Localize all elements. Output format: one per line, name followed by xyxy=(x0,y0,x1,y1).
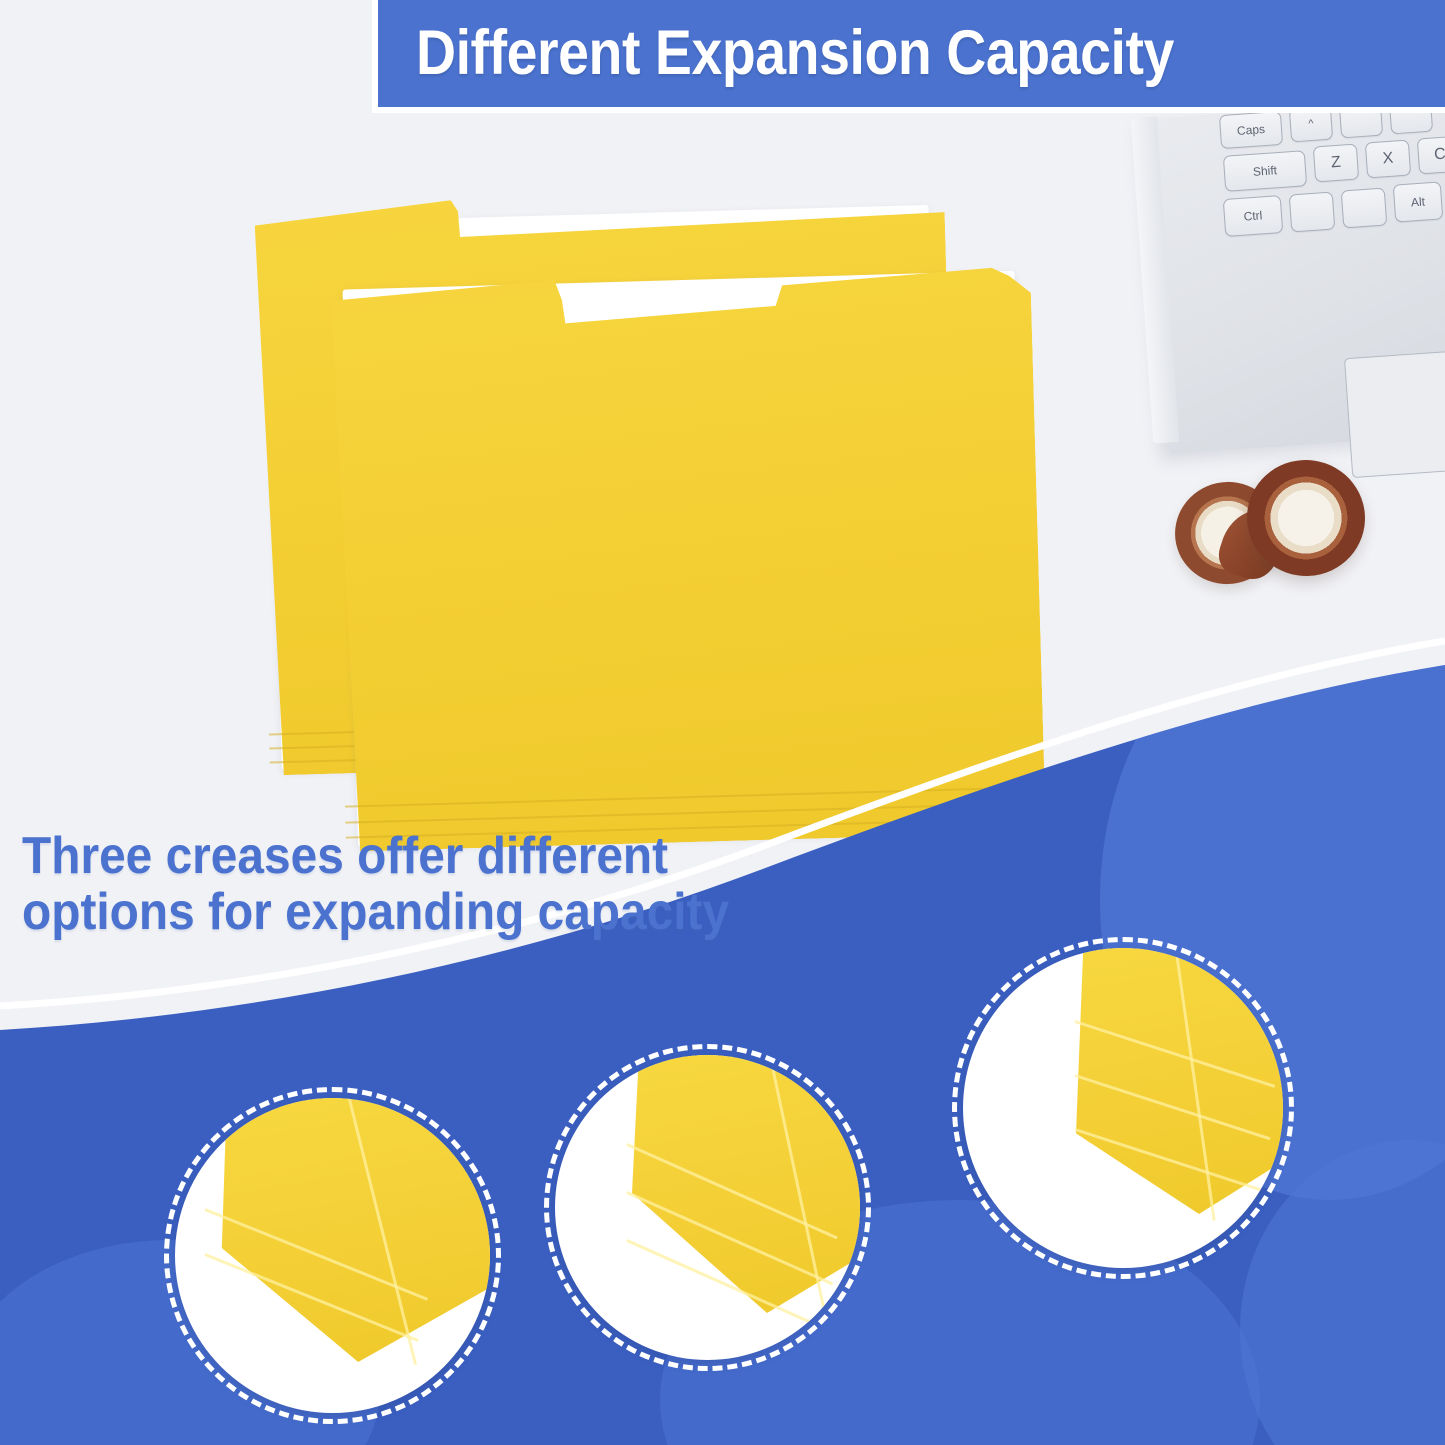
header-banner: Different Expansion Capacity xyxy=(372,0,1445,113)
crease-detail-circle-3[interactable] xyxy=(963,948,1283,1268)
crease-detail-1-inner xyxy=(175,1098,490,1413)
folder-corner-2 xyxy=(617,1055,860,1313)
caption-line-1: Three creases offer different xyxy=(22,828,813,884)
feature-caption: Three creases offer different options fo… xyxy=(22,828,813,940)
product-marketing-image: Caps ^ Shift Z X C Ctrl Alt xyxy=(0,0,1445,1445)
crease-detail-circle-2[interactable] xyxy=(555,1055,860,1360)
caption-line-2: options for expanding capacity xyxy=(22,884,813,940)
crease-detail-2-inner xyxy=(555,1055,860,1360)
page-title: Different Expansion Capacity xyxy=(416,22,1174,85)
crease-detail-circle-1[interactable] xyxy=(175,1098,490,1413)
crease-detail-3-inner xyxy=(963,948,1283,1268)
folder-corner-1 xyxy=(197,1098,490,1362)
